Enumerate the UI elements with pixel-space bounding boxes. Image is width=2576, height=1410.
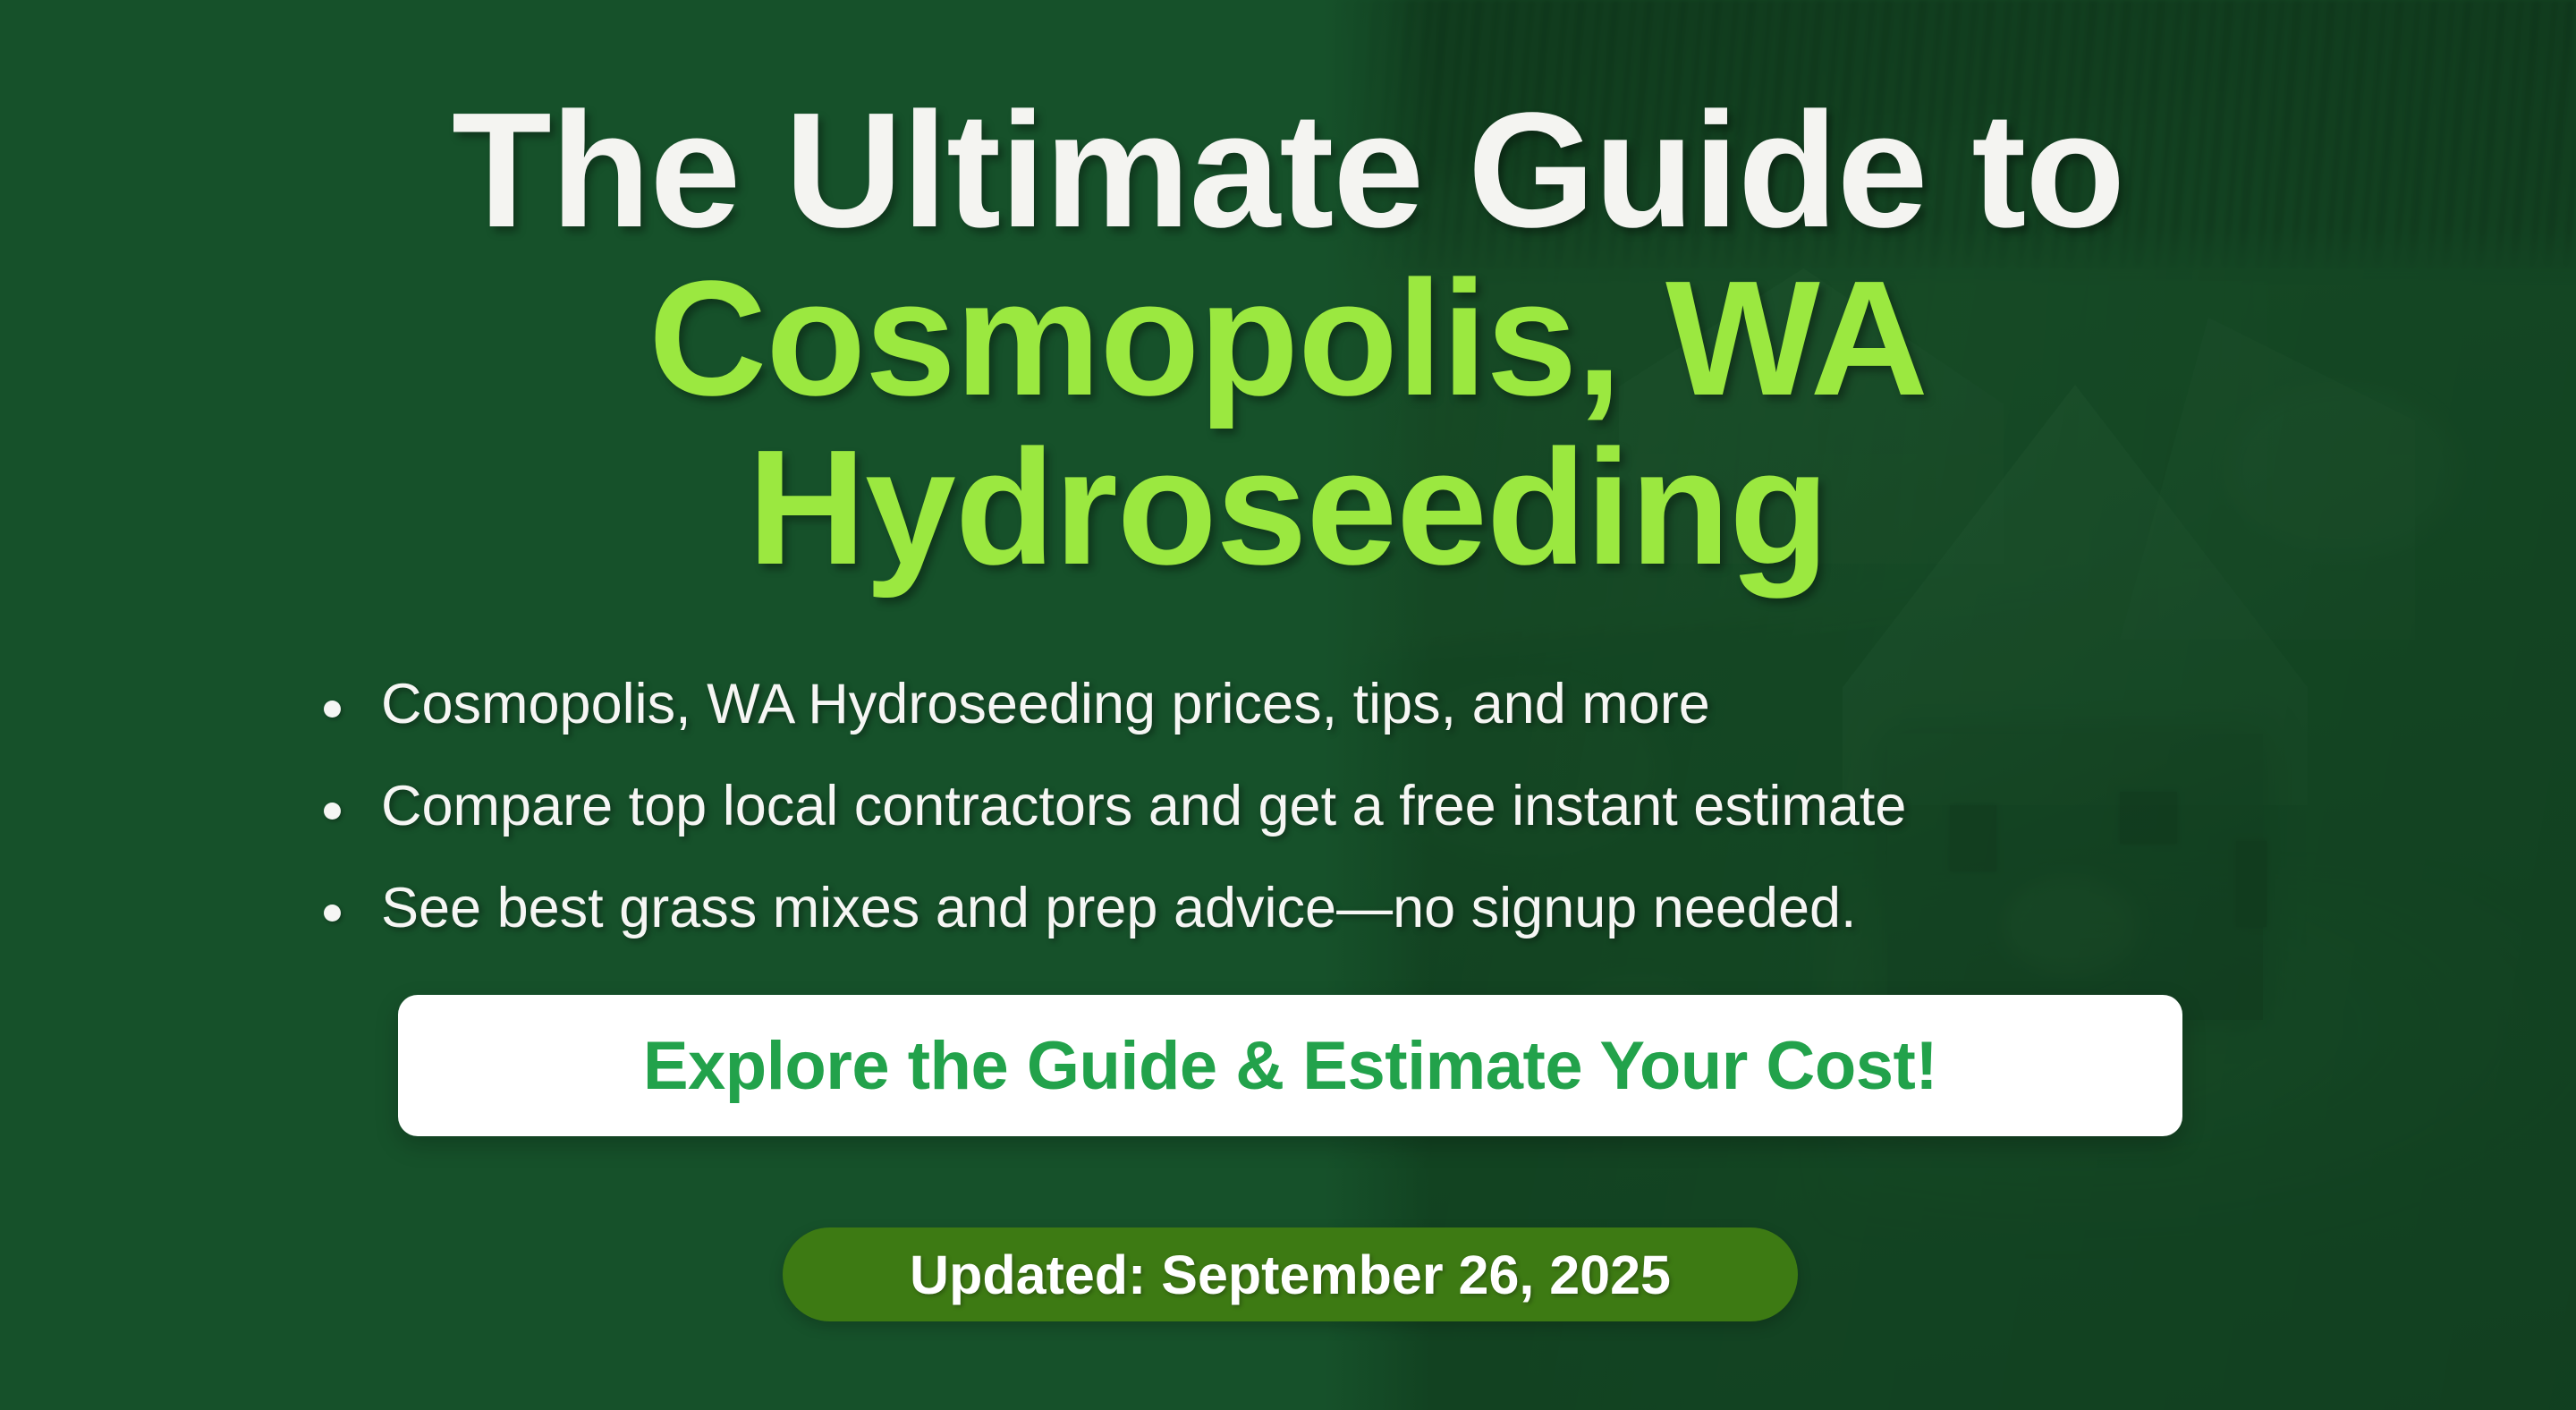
page-title-line-2: Cosmopolis, WA bbox=[107, 254, 2469, 422]
list-item: Cosmopolis, WA Hydroseeding prices, tips… bbox=[295, 676, 2308, 733]
page-title-line-3: Hydroseeding bbox=[107, 423, 2469, 591]
page-title: The Ultimate Guide to Cosmopolis, WA Hyd… bbox=[0, 86, 2576, 591]
last-updated-label: Updated: September 26, 2025 bbox=[910, 1244, 1671, 1306]
cta-button-label: Explore the Guide & Estimate Your Cost! bbox=[643, 1027, 1937, 1105]
list-item: See best grass mixes and prep advice—no … bbox=[295, 880, 2308, 937]
page-title-line-1: The Ultimate Guide to bbox=[452, 78, 2124, 261]
bullet-text: See best grass mixes and prep advice—no … bbox=[381, 877, 1857, 939]
list-item: Compare top local contractors and get a … bbox=[295, 778, 2308, 835]
banner-content: The Ultimate Guide to Cosmopolis, WA Hyd… bbox=[0, 0, 2576, 1410]
explore-guide-cta-button[interactable]: Explore the Guide & Estimate Your Cost! bbox=[398, 995, 2182, 1136]
bullet-text: Cosmopolis, WA Hydroseeding prices, tips… bbox=[381, 673, 1710, 735]
last-updated-badge: Updated: September 26, 2025 bbox=[783, 1227, 1798, 1321]
feature-bullet-list: Cosmopolis, WA Hydroseeding prices, tips… bbox=[295, 676, 2308, 982]
bullet-text: Compare top local contractors and get a … bbox=[381, 775, 1906, 837]
hero-banner: The Ultimate Guide to Cosmopolis, WA Hyd… bbox=[0, 0, 2576, 1410]
